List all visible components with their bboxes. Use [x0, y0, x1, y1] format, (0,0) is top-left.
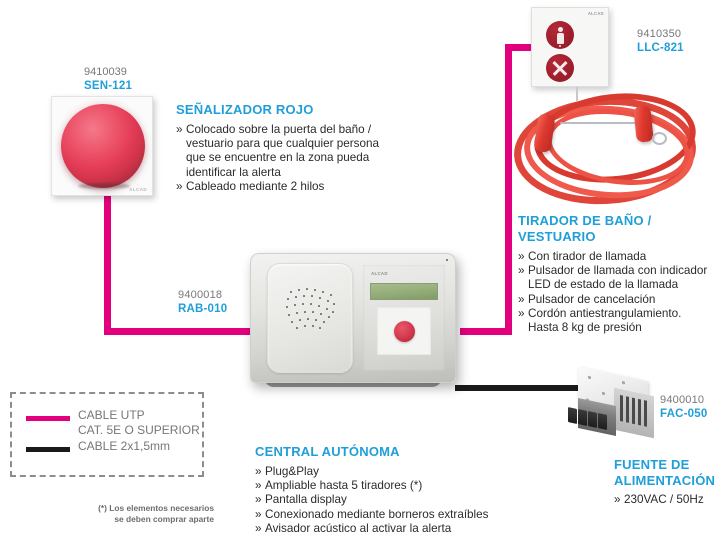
psu-partcode: FAC-050 [660, 407, 707, 421]
psu-partno: 9400010 [660, 394, 704, 407]
psu-terminal-block [578, 409, 587, 426]
bullet: Colocado sobre la puerta del baño / [176, 123, 406, 137]
central-keypad[interactable] [377, 307, 431, 355]
alert-icon [394, 321, 415, 342]
person-icon-dot [559, 45, 561, 47]
cable-power-central-to-psu [455, 385, 585, 391]
section-psu-text: FUENTE DE ALIMENTACIÓN 230VAC / 50Hz [614, 457, 727, 507]
pullcord-partno: 9410350 [637, 28, 681, 41]
device-signaler-sen121: ALCAD [51, 96, 153, 196]
bullet: Pulsador de llamada con indicador [518, 264, 727, 278]
legend-swatch-power [26, 447, 70, 452]
legend-box: CABLE UTP CAT. 5E O SUPERIOR CABLE 2x1,5… [10, 392, 204, 477]
psu-heading-line1: FUENTE DE [614, 457, 727, 473]
pullcord-brand-label: ALCAD [588, 11, 604, 16]
signaler-red-dome [61, 104, 145, 188]
bullet-cont: vestuario para que cualquier persona [176, 137, 406, 151]
bullet: Cordón antiestrangulamiento. [518, 307, 727, 321]
central-housing: ALCAD [250, 253, 456, 383]
pullcord-red-cord [500, 88, 725, 200]
bullet: Pantalla display [255, 493, 525, 507]
diagram-canvas: ALCAD 9410039 SEN-121 [data-name="signal… [0, 0, 727, 548]
central-bullets: Plug&Play Ampliable hasta 5 tiradores (*… [255, 465, 525, 536]
pullcord-heading: TIRADOR DE BAÑO / VESTUARIO [518, 213, 727, 245]
bullet: 230VAC / 50Hz [614, 493, 727, 507]
bullet-cont: Hasta 8 kg de presión [518, 321, 727, 335]
legend-footnote-line2: se deben comprar aparte [74, 514, 214, 525]
central-control-panel: ALCAD [363, 265, 445, 371]
psu-side-face [614, 388, 654, 439]
psu-heading-line2: ALIMENTACIÓN [614, 473, 727, 489]
section-pullcord-text: TIRADOR DE BAÑO / VESTUARIO Con tirador … [518, 213, 727, 335]
legend-label-utp-line2: CAT. 5E O SUPERIOR [78, 423, 200, 438]
signaler-partno: 9410039 [84, 66, 127, 79]
bullet-cont: que se encuentre en la zona pueda [176, 151, 406, 165]
section-central-text: CENTRAL AUTÓNOMA Plug&Play Ampliable has… [255, 444, 525, 536]
psu-bullets: 230VAC / 50Hz [614, 493, 727, 507]
pullcord-cancel-button[interactable] [546, 54, 574, 82]
cord-grip-right[interactable] [633, 105, 654, 143]
bullet: Pulsador de cancelación [518, 293, 727, 307]
person-icon [558, 27, 563, 32]
bullet-cont: LED de estado de la llamada [518, 278, 727, 292]
legend-swatch-utp [26, 416, 70, 421]
cord-metal-wire [560, 122, 644, 124]
device-pullcord-llc821: ALCAD [531, 7, 609, 87]
bullet: Plug&Play [255, 465, 525, 479]
legend-label-utp-line1: CABLE UTP [78, 408, 145, 423]
legend-label-power-line1: CABLE 2x1,5mm [78, 439, 170, 454]
bullet: Con tirador de llamada [518, 250, 727, 264]
speaker-grille [286, 288, 338, 330]
psu-terminal-block [568, 407, 577, 424]
section-signaler-text: SEÑALIZADOR ROJO Colocado sobre la puert… [176, 102, 406, 194]
psu-terminal-block [598, 413, 607, 430]
central-partcode: RAB-010 [178, 302, 227, 316]
central-speaker-panel [267, 263, 353, 373]
signaler-partcode: SEN-121 [84, 79, 132, 93]
bullet: Ampliable hasta 5 tiradores (*) [255, 479, 525, 493]
legend-footnote: (*) Los elementos necesarios se deben co… [74, 503, 214, 524]
pullcord-bullets: Con tirador de llamada Pulsador de llama… [518, 250, 727, 335]
device-psu-fac050 [568, 372, 664, 444]
person-icon-body [557, 33, 564, 44]
signaler-base-shadow [78, 183, 130, 189]
central-status-led [446, 259, 448, 261]
pullcord-partcode: LLC-821 [637, 41, 684, 55]
legend-footnote-line1: (*) Los elementos necesarios [74, 503, 214, 514]
bullet: Cableado mediante 2 hilos [176, 180, 406, 194]
central-heading: CENTRAL AUTÓNOMA [255, 444, 525, 460]
central-lcd-display [370, 283, 438, 300]
central-partno: 9400018 [178, 289, 222, 302]
bullet-cont: identificar la alerta [176, 166, 406, 180]
pullcord-call-button[interactable] [546, 21, 574, 49]
bullet: Conexionado mediante borneros extraíbles [255, 508, 525, 522]
device-central-rab010: ALCAD [242, 253, 464, 393]
signaler-heading: SEÑALIZADOR ROJO [176, 102, 406, 118]
cable-utp-signaler-vertical [104, 196, 111, 330]
cord-ring-clip [652, 132, 667, 145]
bullet: Avisador acústico al activar la alerta [255, 522, 525, 536]
signaler-bullets: Colocado sobre la puerta del baño / vest… [176, 123, 406, 194]
psu-terminal-block [588, 411, 597, 428]
cable-utp-signaler-horizontal [104, 328, 252, 335]
central-brand-label: ALCAD [371, 271, 388, 276]
signaler-brand-label: ALCAD [129, 187, 147, 192]
